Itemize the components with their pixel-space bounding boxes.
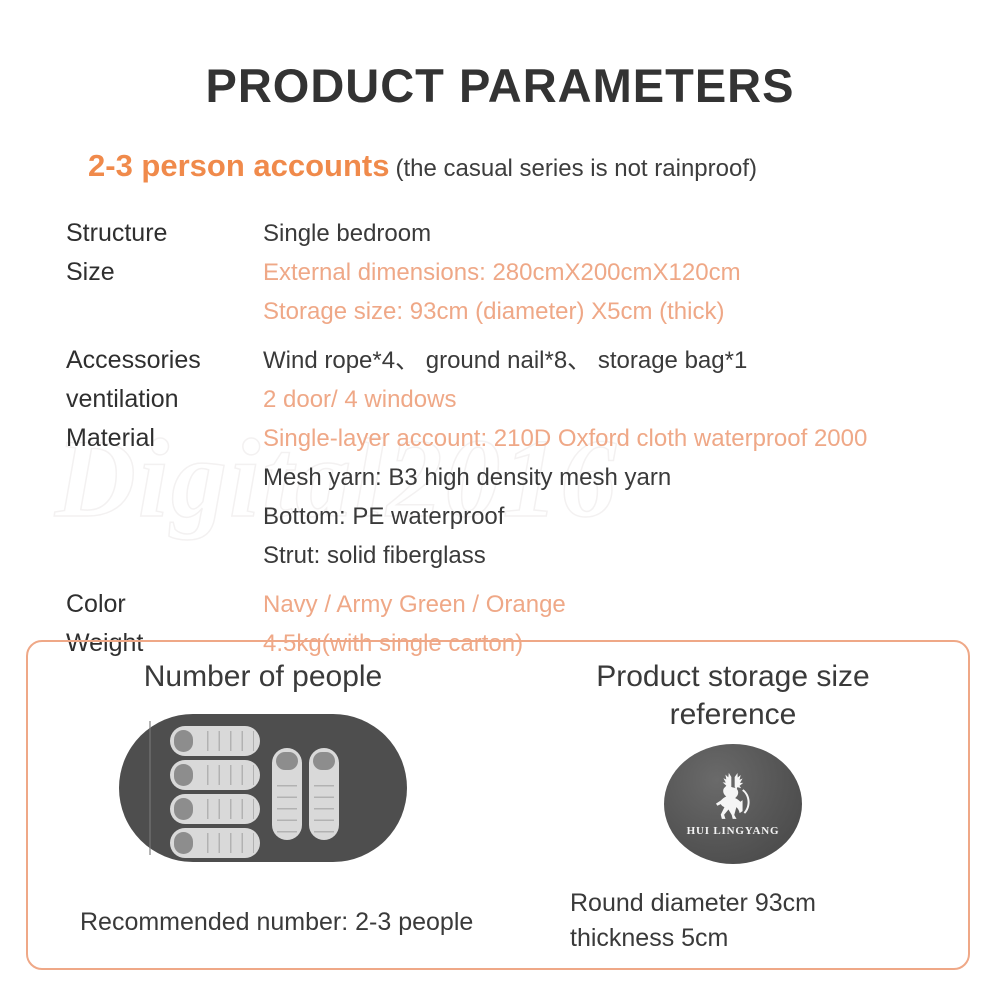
spec-value: External dimensions: 280cmX200cmX120cm [263, 253, 966, 292]
row-spacer [66, 575, 966, 585]
pillow-shape [174, 764, 193, 786]
spec-row-structure: Structure Single bedroom [66, 214, 966, 253]
spec-value: Mesh yarn: B3 high density mesh yarn [263, 458, 966, 497]
page-title: PRODUCT PARAMETERS [0, 58, 1000, 113]
spec-values: Single bedroom [263, 214, 966, 253]
tent-divider-line [149, 721, 151, 855]
caption-storage-line1: Round diameter 93cm [570, 886, 1000, 921]
pillow-shape [276, 752, 298, 770]
subtitle-note: (the casual series is not rainproof) [395, 155, 757, 182]
spec-row-accessories: Accessories Wind rope*4、 ground nail*8、 … [66, 341, 966, 380]
caption-storage-line2: thickness 5cm [570, 921, 1000, 956]
row-spacer [66, 331, 966, 341]
storage-bag-circle: HUI LINGYANG [664, 744, 802, 864]
sleeping-pad-horizontal [170, 760, 260, 790]
spec-table: Structure Single bedroom Size External d… [66, 214, 966, 663]
spec-label: Material [66, 419, 263, 458]
tent-outline-shape [119, 714, 407, 862]
spec-row-size: Size External dimensions: 280cmX200cmX12… [66, 253, 966, 331]
pad-ribs [197, 799, 254, 819]
spec-label: Color [66, 585, 263, 624]
bottom-info-panel: Number of people [26, 640, 970, 970]
spec-row-color: Color Navy / Army Green / Orange [66, 585, 966, 624]
pad-ribs [197, 765, 254, 785]
panel-heading-right: Product storage size reference [498, 658, 968, 734]
sleeping-pad-horizontal [170, 794, 260, 824]
spec-label: ventilation [66, 380, 263, 419]
panel-column-storage-size: Product storage size reference HUI LINGY… [498, 642, 968, 968]
spec-value: Single bedroom [263, 214, 966, 253]
sleeping-pad-horizontal [170, 828, 260, 858]
deer-logo-icon [706, 772, 760, 824]
caption-storage-size: Round diameter 93cm thickness 5cm [498, 886, 1000, 956]
pad-ribs [314, 775, 334, 834]
pillow-shape [174, 798, 193, 820]
spec-value: Bottom: PE waterproof [263, 497, 966, 536]
spec-values: Single-layer account: 210D Oxford cloth … [263, 419, 966, 575]
brand-name-label: HUI LINGYANG [687, 825, 780, 837]
spec-label: Size [66, 253, 263, 292]
spec-value: Single-layer account: 210D Oxford cloth … [263, 419, 966, 458]
storage-bag-diagram: HUI LINGYANG [664, 744, 802, 864]
tent-floorplan-diagram [119, 714, 407, 862]
pad-ribs [277, 775, 297, 834]
pillow-shape [174, 730, 193, 752]
spec-row-material: Material Single-layer account: 210D Oxfo… [66, 419, 966, 575]
pillow-shape [313, 752, 335, 770]
pad-ribs [197, 833, 254, 853]
spec-values: 2 door/ 4 windows [263, 380, 966, 419]
pad-ribs [197, 731, 254, 751]
sleeping-pad-vertical [309, 748, 339, 840]
panel-heading-left: Number of people [28, 658, 498, 696]
spec-value: Wind rope*4、 ground nail*8、 storage bag*… [263, 341, 966, 380]
spec-value: Storage size: 93cm (diameter) X5cm (thic… [263, 292, 966, 331]
spec-value: Navy / Army Green / Orange [263, 585, 966, 624]
spec-value: 2 door/ 4 windows [263, 380, 966, 419]
spec-values: Navy / Army Green / Orange [263, 585, 966, 624]
spec-values: External dimensions: 280cmX200cmX120cm S… [263, 253, 966, 331]
sleeping-pad-horizontal [170, 726, 260, 756]
panel-heading-right-line1: Product storage size [498, 658, 968, 696]
subtitle: 2-3 person accounts(the casual series is… [88, 148, 757, 184]
spec-value: Strut: solid fiberglass [263, 536, 966, 575]
caption-recommended-number: Recommended number: 2-3 people [28, 905, 550, 940]
subtitle-main: 2-3 person accounts [88, 148, 389, 183]
pillow-shape [174, 832, 193, 854]
spec-label: Structure [66, 214, 263, 253]
sleeping-pad-vertical [272, 748, 302, 840]
spec-label: Accessories [66, 341, 263, 380]
panel-heading-right-line2: reference [498, 696, 968, 734]
panel-column-number-of-people: Number of people [28, 642, 498, 968]
spec-values: Wind rope*4、 ground nail*8、 storage bag*… [263, 341, 966, 380]
spec-row-ventilation: ventilation 2 door/ 4 windows [66, 380, 966, 419]
